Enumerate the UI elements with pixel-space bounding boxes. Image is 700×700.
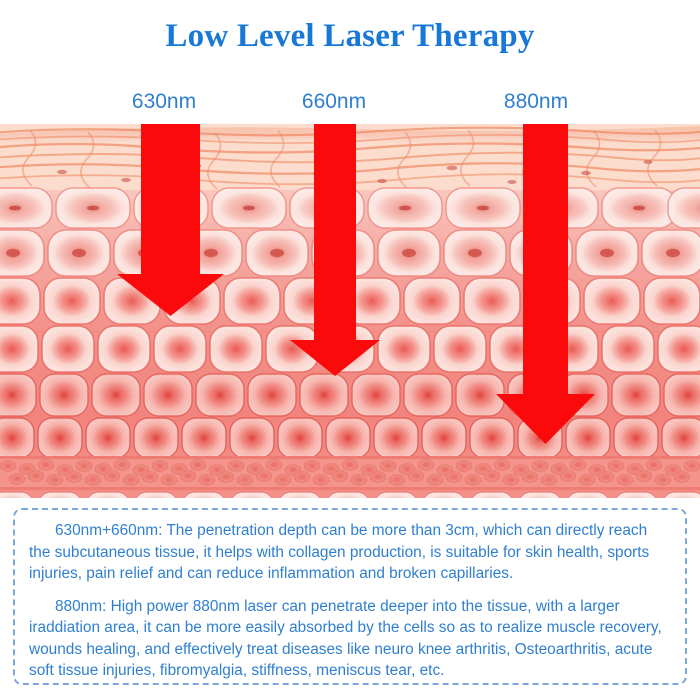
info-paragraph-630-660: 630nm+660nm: The penetration depth can b… xyxy=(29,520,671,585)
laser-therapy-infographic: Low Level Laser Therapy 630nm 660nm 880n… xyxy=(0,0,700,700)
page-title: Low Level Laser Therapy xyxy=(0,18,700,55)
beam-label-630: 630nm xyxy=(132,90,196,114)
info-box: 630nm+660nm: The penetration depth can b… xyxy=(13,508,687,685)
down-arrow-icon-880 xyxy=(496,124,595,444)
beam-label-660: 660nm xyxy=(302,90,366,114)
info-paragraph-880: 880nm: High power 880nm laser can penetr… xyxy=(29,596,671,682)
down-arrow-icon-660 xyxy=(290,124,380,376)
down-arrow-icon-630 xyxy=(141,124,224,316)
beam-label-880: 880nm xyxy=(504,90,568,114)
